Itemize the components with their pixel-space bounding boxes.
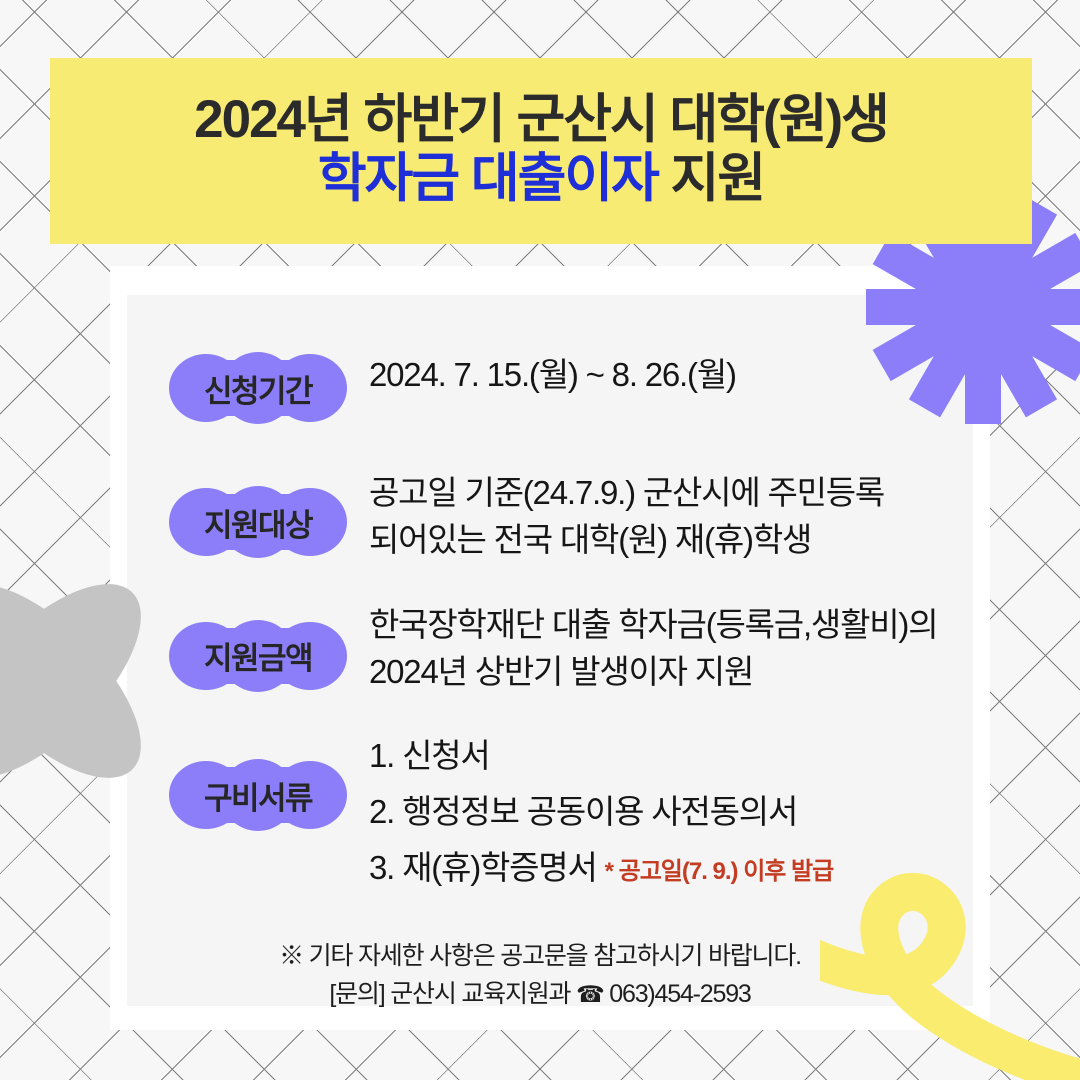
badge-support-amount: 지원금액	[169, 620, 347, 692]
info-line: 되어있는 전국 대학(원) 재(휴)학생	[369, 517, 973, 564]
badge-label: 지원대상	[169, 486, 347, 558]
document-item: 3. 재(휴)학증명서 * 공고일(7. 9.) 이후 발급	[369, 845, 973, 892]
poster-canvas: 2024년 하반기 군산시 대학(원)생 학자금 대출이자 지원 신청기간 20…	[0, 0, 1080, 1080]
info-row-support-amount: 지원금액 한국장학재단 대출 학자금(등록금,생활비)의 2024년 상반기 발…	[127, 600, 973, 696]
info-row-eligibility: 지원대상 공고일 기준(24.7.9.) 군산시에 주민등록 되어있는 전국 대…	[127, 468, 973, 564]
title-line-2-highlight: 학자금 대출이자	[318, 149, 658, 208]
title-banner: 2024년 하반기 군산시 대학(원)생 학자금 대출이자 지원	[50, 58, 1032, 244]
badge-label: 구비서류	[169, 759, 347, 831]
footer-contact: [문의] 군산시 교육지원과 ☎ 063)454-2593	[0, 975, 1080, 1014]
footer-phone-number: 063)454-2593	[604, 980, 751, 1008]
footer: ※ 기타 자세한 사항은 공고문을 참고하시기 바랍니다. [문의] 군산시 교…	[0, 937, 1080, 1015]
content-list: 신청기간 2024. 7. 15.(월) ~ 8. 26.(월) 지원대상 공고…	[127, 295, 973, 1006]
title-line-2-rest: 지원	[658, 149, 764, 208]
title-line-1: 2024년 하반기 군산시 대학(원)생	[194, 90, 888, 149]
badge-required-documents: 구비서류	[169, 759, 347, 831]
info-row-application-period: 신청기간 2024. 7. 15.(월) ~ 8. 26.(월)	[127, 350, 973, 424]
footer-notice: ※ 기타 자세한 사항은 공고문을 참고하시기 바랍니다.	[0, 937, 1080, 976]
footer-contact-prefix: [문의] 군산시 교육지원과	[329, 980, 576, 1008]
document-item-text: 3. 재(휴)학증명서	[369, 849, 597, 886]
phone-icon: ☎	[576, 981, 603, 1007]
badge-label: 지원금액	[169, 620, 347, 692]
document-item: 1. 신청서	[369, 733, 973, 780]
document-item: 2. 행정정보 공동이용 사전동의서	[369, 789, 973, 836]
info-row-body: 1. 신청서 2. 행정정보 공동이용 사전동의서 3. 재(휴)학증명서 * …	[369, 731, 973, 901]
info-line: 2024. 7. 15.(월) ~ 8. 26.(월)	[369, 352, 973, 399]
info-row-body: 2024. 7. 15.(월) ~ 8. 26.(월)	[369, 350, 973, 399]
badge-application-period: 신청기간	[169, 352, 347, 424]
info-line: 공고일 기준(24.7.9.) 군산시에 주민등록	[369, 470, 973, 517]
title-line-2: 학자금 대출이자 지원	[318, 149, 764, 208]
info-row-body: 한국장학재단 대출 학자금(등록금,생활비)의 2024년 상반기 발생이자 지…	[369, 600, 973, 696]
info-line: 2024년 상반기 발생이자 지원	[369, 649, 973, 696]
badge-label: 신청기간	[169, 352, 347, 424]
document-note: * 공고일(7. 9.) 이후 발급	[605, 858, 834, 885]
info-row-required-documents: 구비서류 1. 신청서 2. 행정정보 공동이용 사전동의서 3. 재(휴)학증…	[127, 731, 973, 901]
badge-eligibility: 지원대상	[169, 486, 347, 558]
info-row-body: 공고일 기준(24.7.9.) 군산시에 주민등록 되어있는 전국 대학(원) …	[369, 468, 973, 564]
info-line: 한국장학재단 대출 학자금(등록금,생활비)의	[369, 602, 973, 649]
